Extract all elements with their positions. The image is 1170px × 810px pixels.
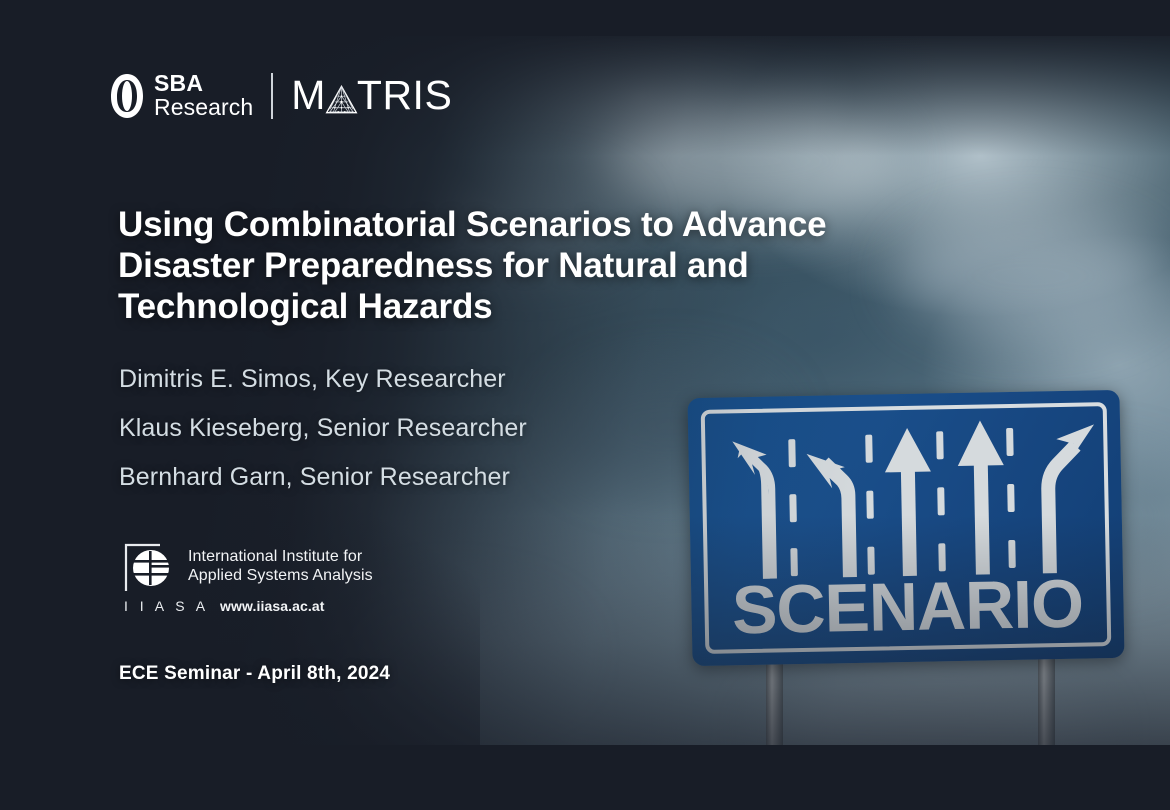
title-line-3: Technological Hazards xyxy=(118,287,918,328)
title-line-2: Disaster Preparedness for Natural and xyxy=(118,246,918,287)
iiasa-url[interactable]: www.iiasa.ac.at xyxy=(220,598,324,614)
author-list: Dimitris E. Simos, Key Researcher Klaus … xyxy=(119,367,527,514)
iiasa-acronym: I I A S A xyxy=(124,598,209,614)
iiasa-logo: International Institute for Applied Syst… xyxy=(124,543,394,614)
matris-part1: M xyxy=(291,72,326,119)
iiasa-name-line2: Applied Systems Analysis xyxy=(188,566,373,585)
vertical-divider-icon xyxy=(271,73,273,119)
iiasa-name: International Institute for Applied Syst… xyxy=(188,543,373,585)
author-entry: Bernhard Garn, Senior Researcher xyxy=(119,465,527,490)
header-logo-group: SBA Research M TRIS xyxy=(110,72,452,119)
matris-logo: M TRIS xyxy=(291,72,452,119)
sba-wordmark: SBA Research xyxy=(154,72,253,119)
iiasa-globe-icon xyxy=(124,543,178,593)
sba-shield-icon xyxy=(110,73,144,119)
iiasa-name-line1: International Institute for xyxy=(188,547,373,566)
sba-research-logo: SBA Research xyxy=(110,72,253,119)
event-footer: ECE Seminar - April 8th, 2024 xyxy=(119,663,390,685)
title-line-1: Using Combinatorial Scenarios to Advance xyxy=(118,205,918,246)
sba-line2: Research xyxy=(154,96,253,119)
slide-title: Using Combinatorial Scenarios to Advance… xyxy=(118,205,918,328)
presentation-slide: SCENARIO SBA Research M xyxy=(0,0,1170,810)
matris-part2: TRIS xyxy=(357,72,452,119)
author-entry: Dimitris E. Simos, Key Researcher xyxy=(119,367,527,392)
author-entry: Klaus Kieseberg, Senior Researcher xyxy=(119,416,527,441)
sba-line1: SBA xyxy=(154,72,253,95)
matris-triangle-network-icon xyxy=(325,83,358,116)
